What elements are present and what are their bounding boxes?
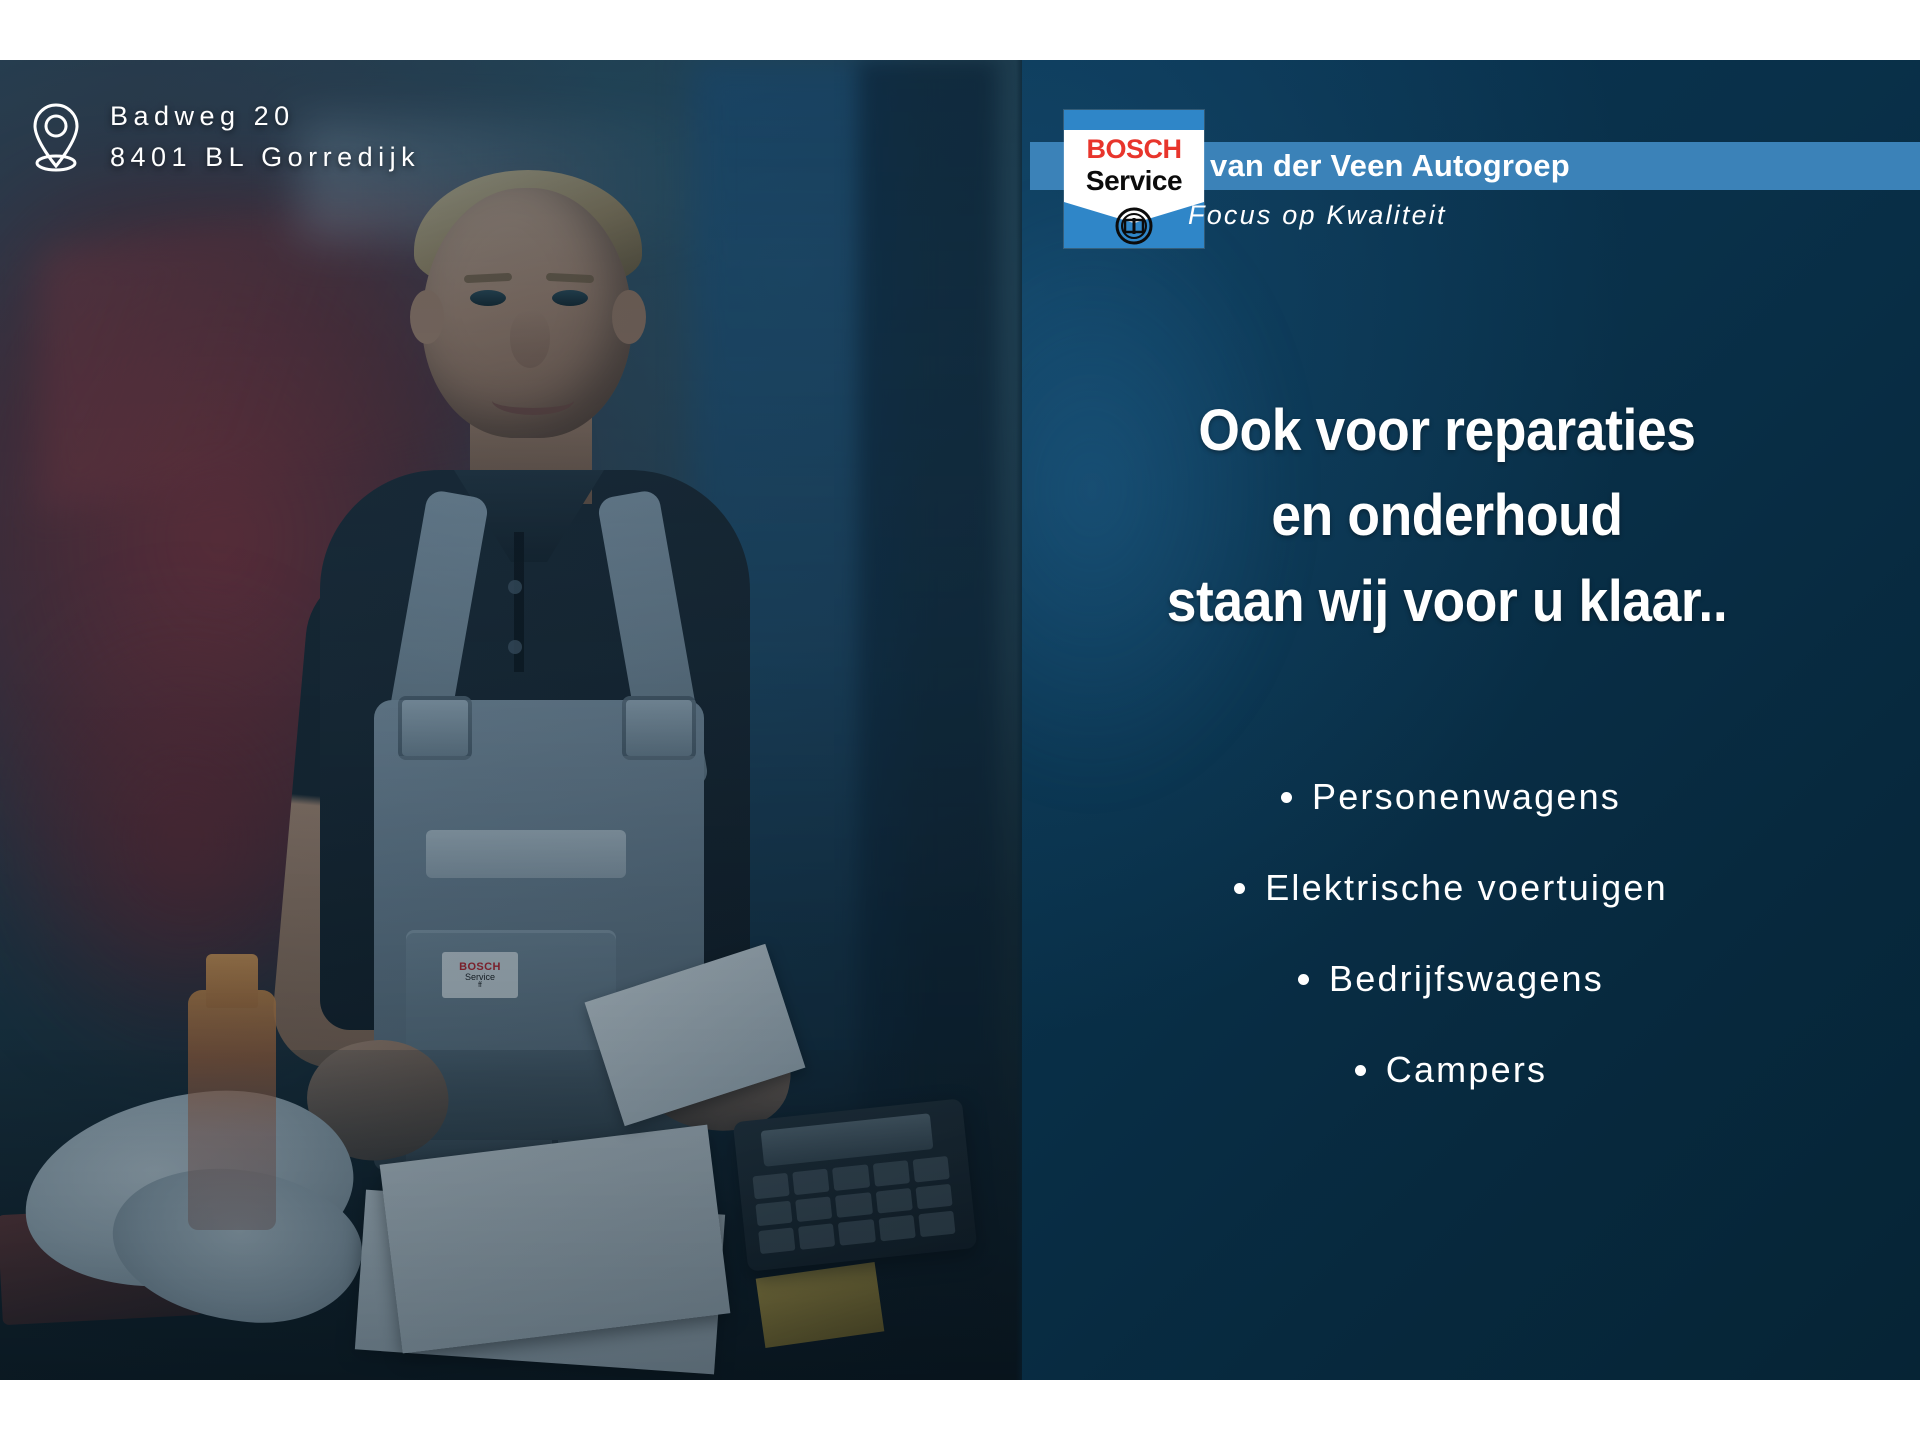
logo-top-bar bbox=[1064, 110, 1204, 130]
list-item: Elektrische voertuigen bbox=[1234, 867, 1668, 909]
bosch-service-logo: BOSCH Service bbox=[1064, 110, 1204, 248]
headline-line-2: en onderhoud bbox=[1056, 473, 1838, 558]
bullet-icon bbox=[1281, 792, 1292, 803]
headline-line-1: Ook voor reparaties bbox=[1056, 388, 1838, 473]
location-pin-icon bbox=[28, 101, 84, 173]
promo-slide: BOSCH Service ff bbox=[0, 0, 1920, 1440]
bullet-icon bbox=[1234, 883, 1245, 894]
services-list: Personenwagens Elektrische voertuigen Be… bbox=[1022, 776, 1880, 1091]
service-label: Personenwagens bbox=[1312, 776, 1621, 818]
address-text: Badweg 20 8401 BL Gorredijk bbox=[110, 96, 420, 178]
bosch-wordmark: BOSCH bbox=[1064, 132, 1204, 166]
service-wordmark: Service bbox=[1064, 164, 1204, 198]
address-line-2: 8401 BL Gorredijk bbox=[110, 137, 420, 178]
address-overlay: Badweg 20 8401 BL Gorredijk bbox=[28, 96, 420, 178]
mechanic-photo: BOSCH Service ff bbox=[0, 60, 1022, 1380]
list-item: Campers bbox=[1355, 1049, 1547, 1091]
service-label: Bedrijfswagens bbox=[1329, 958, 1604, 1000]
bullet-icon bbox=[1355, 1065, 1366, 1076]
list-item: Bedrijfswagens bbox=[1298, 958, 1604, 1000]
list-item: Personenwagens bbox=[1281, 776, 1621, 818]
content-panel: BOSCH Service van der Veen Autogroep Foc… bbox=[1022, 60, 1920, 1380]
photo-stage: BOSCH Service ff bbox=[0, 60, 1022, 1380]
headline-line-3: staan wij voor u klaar.. bbox=[1056, 559, 1838, 644]
address-line-1: Badweg 20 bbox=[110, 96, 420, 137]
headline: Ook voor reparaties en onderhoud staan w… bbox=[1022, 388, 1872, 644]
bullet-icon bbox=[1298, 974, 1309, 985]
bosch-armature-icon bbox=[1114, 206, 1154, 246]
service-label: Campers bbox=[1386, 1049, 1547, 1091]
brand-header: BOSCH Service van der Veen Autogroep Foc… bbox=[1022, 100, 1920, 250]
service-label: Elektrische voertuigen bbox=[1265, 867, 1668, 909]
company-name: van der Veen Autogroep bbox=[1210, 142, 1570, 190]
company-tagline: Focus op Kwaliteit bbox=[1188, 200, 1447, 231]
photo-tint-overlay bbox=[0, 60, 1022, 1380]
